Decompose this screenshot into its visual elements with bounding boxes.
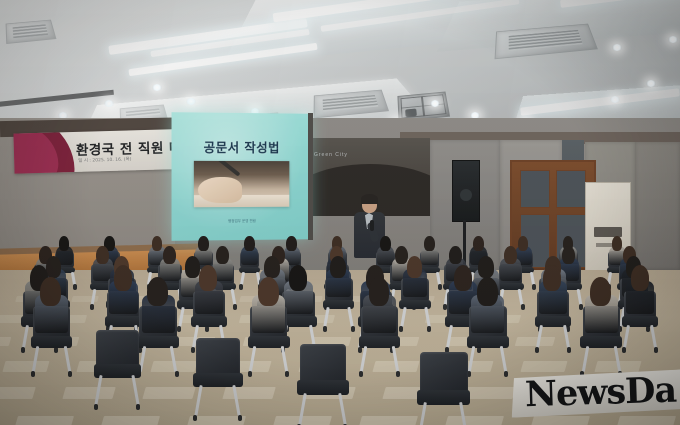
carpet-tile [530,416,590,425]
watermark-text: NewsDa [524,373,676,413]
downlight-icon [186,98,196,105]
carpet-tile [71,296,99,302]
downlight-icon [430,100,440,107]
downlight-icon [104,100,114,107]
carpet-tile [62,387,116,399]
downlight-icon [646,80,656,87]
carpet-tile [462,387,516,399]
carpet-tile [520,361,567,372]
carpet-tile [444,416,504,425]
slide-image [194,161,289,207]
backdrop-logo: Green City [314,152,348,158]
carpet-tile [2,361,49,372]
carpet-tile [100,416,160,425]
projection-screen: 공문서 작성법 행정업무 운영 편람 [172,112,311,241]
ceiling [0,0,680,128]
slide-title: 공문서 작성법 [172,137,311,157]
carpet-tile [142,387,196,399]
carpet-tile [222,387,276,399]
seminar-photo: 환경국 전 직원 대 일 시 : 2025. 10. 16. (목) Green… [0,0,680,425]
carpet-tile [515,337,556,346]
downlight-icon [152,84,162,91]
banner-subtitle: 일 시 : 2025. 10. 16. (목) [78,156,131,163]
carpet-tile [0,387,36,399]
acoustic-panel [635,142,680,270]
carpet-tile [616,416,676,425]
carpet-tile [358,416,418,425]
screen-frame [308,113,313,240]
carpet-tile [14,416,74,425]
downlight-icon [612,44,622,51]
downlight-icon [610,96,620,103]
downlight-icon [668,36,678,43]
loudspeaker [452,160,480,222]
microphone-icon [370,220,374,231]
